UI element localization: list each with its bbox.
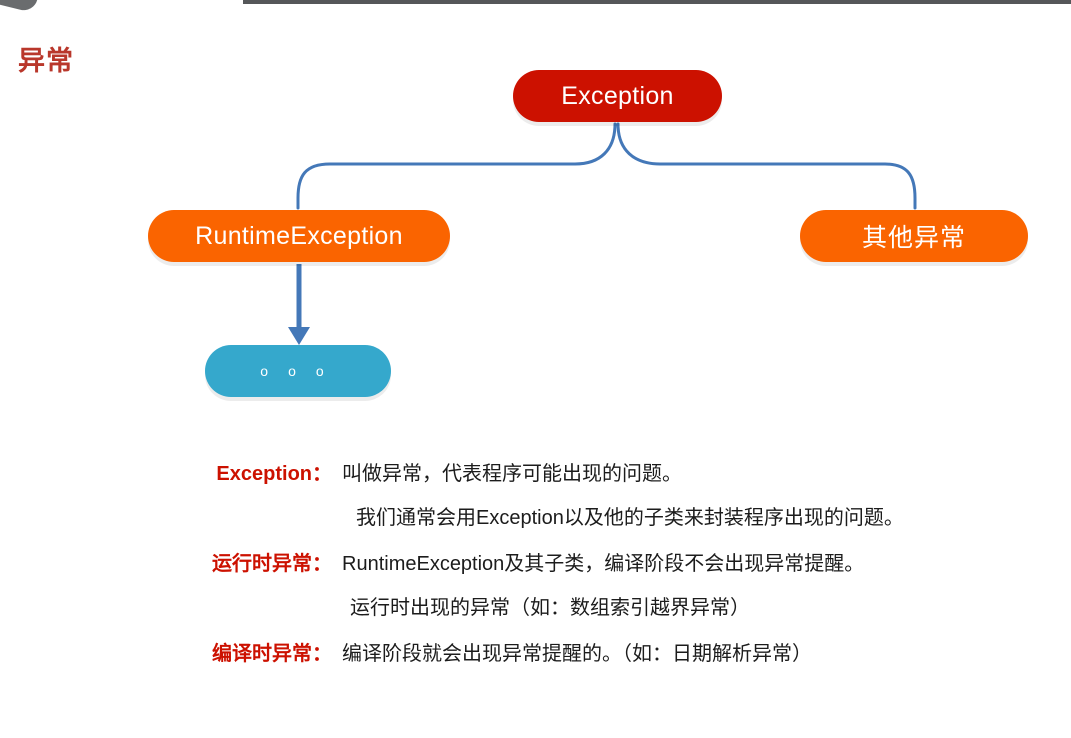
description-row: 运行时异常： RuntimeException及其子类，编译阶段不会出现异常提醒… bbox=[190, 542, 1060, 630]
node-runtime-exception[interactable]: RuntimeException bbox=[148, 210, 450, 262]
node-other-exception-label: 其他异常 bbox=[862, 218, 966, 254]
node-exception-label: Exception bbox=[561, 82, 674, 111]
description-line-1: 叫做异常，代表程序可能出现的问题。 bbox=[342, 463, 682, 485]
description-row: 编译时异常： 编译阶段就会出现异常提醒的。（如：日期解析异常） bbox=[190, 632, 1060, 676]
description-body-runtime-exception: RuntimeException及其子类，编译阶段不会出现异常提醒。 运行时出现… bbox=[332, 542, 1060, 630]
description-body-exception: 叫做异常，代表程序可能出现的问题。 我们通常会用Exception以及他的子类来… bbox=[332, 452, 1060, 540]
description-label-exception: Exception： bbox=[190, 452, 332, 496]
node-runtime-exception-label: RuntimeException bbox=[195, 222, 403, 251]
description-line-2: 运行时出现的异常（如：数组索引越界异常） bbox=[342, 586, 1060, 630]
description-body-compile-exception: 编译阶段就会出现异常提醒的。（如：日期解析异常） bbox=[332, 632, 1060, 676]
node-other-exception[interactable]: 其他异常 bbox=[800, 210, 1028, 262]
node-ellipsis[interactable]: o o o bbox=[205, 345, 391, 397]
description-line-2: 我们通常会用Exception以及他的子类来封装程序出现的问题。 bbox=[342, 496, 1060, 540]
description-label-compile-exception: 编译时异常： bbox=[190, 632, 332, 676]
exception-hierarchy-diagram: Exception RuntimeException 其他异常 o o o bbox=[0, 0, 1071, 440]
node-exception[interactable]: Exception bbox=[513, 70, 722, 122]
ellipsis-dot-icon: o bbox=[288, 363, 296, 379]
edge-exception-to-other-exception bbox=[618, 124, 915, 208]
description-label-runtime-exception: 运行时异常： bbox=[190, 542, 332, 586]
description-list: Exception： 叫做异常，代表程序可能出现的问题。 我们通常会用Excep… bbox=[190, 452, 1060, 678]
description-row: Exception： 叫做异常，代表程序可能出现的问题。 我们通常会用Excep… bbox=[190, 452, 1060, 540]
description-line-1: 编译阶段就会出现异常提醒的。（如：日期解析异常） bbox=[342, 643, 812, 665]
arrowhead-icon bbox=[288, 327, 310, 345]
edge-exception-to-runtimeexception bbox=[298, 124, 615, 208]
ellipsis-dot-icon: o bbox=[260, 363, 268, 379]
description-line-1: RuntimeException及其子类，编译阶段不会出现异常提醒。 bbox=[342, 553, 864, 575]
node-ellipsis-dots: o o o bbox=[260, 363, 323, 379]
ellipsis-dot-icon: o bbox=[316, 363, 324, 379]
